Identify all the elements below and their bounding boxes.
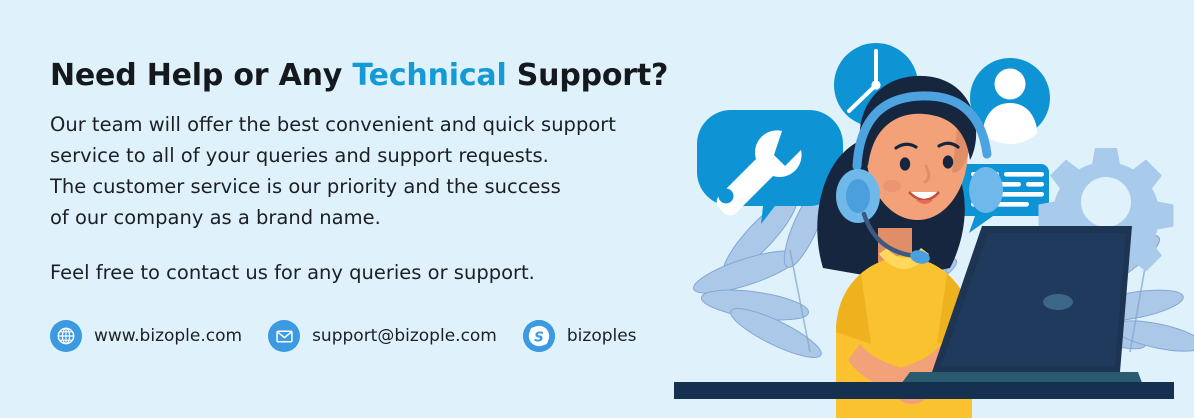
contact-label-skype: bizoples	[567, 326, 637, 346]
body-paragraph: Our team will offer the best convenient …	[50, 93, 730, 233]
contact-label-website: www.bizople.com	[94, 326, 242, 346]
desk	[674, 382, 1174, 399]
closing-paragraph: Feel free to contact us for any queries …	[50, 233, 730, 288]
envelope-icon	[268, 320, 300, 352]
contact-item-skype[interactable]: S bizoples	[523, 320, 637, 352]
body-line: of our company as a brand name.	[50, 202, 730, 233]
body-line: The customer service is our priority and…	[50, 171, 730, 202]
contact-item-website[interactable]: www.bizople.com	[50, 320, 242, 352]
support-illustration	[660, 0, 1194, 418]
contact-row: www.bizople.com support@bizople.com S	[50, 320, 663, 352]
headline-accent-word: Technical	[352, 58, 506, 93]
body-line: Our team will offer the best convenient …	[50, 109, 730, 140]
text-column: Need Help or Any Technical Support? Our …	[50, 58, 730, 288]
skype-icon: S	[523, 320, 555, 352]
headline-part-1: Need Help or Any	[50, 58, 352, 93]
svg-text:S: S	[534, 329, 544, 345]
page-title: Need Help or Any Technical Support?	[50, 58, 730, 93]
support-banner: Need Help or Any Technical Support? Our …	[0, 0, 1194, 418]
body-line: service to all of your queries and suppo…	[50, 140, 730, 171]
contact-label-email: support@bizople.com	[312, 326, 497, 346]
globe-icon	[50, 320, 82, 352]
headline-part-2: Support?	[507, 58, 669, 93]
contact-item-email[interactable]: support@bizople.com	[268, 320, 497, 352]
